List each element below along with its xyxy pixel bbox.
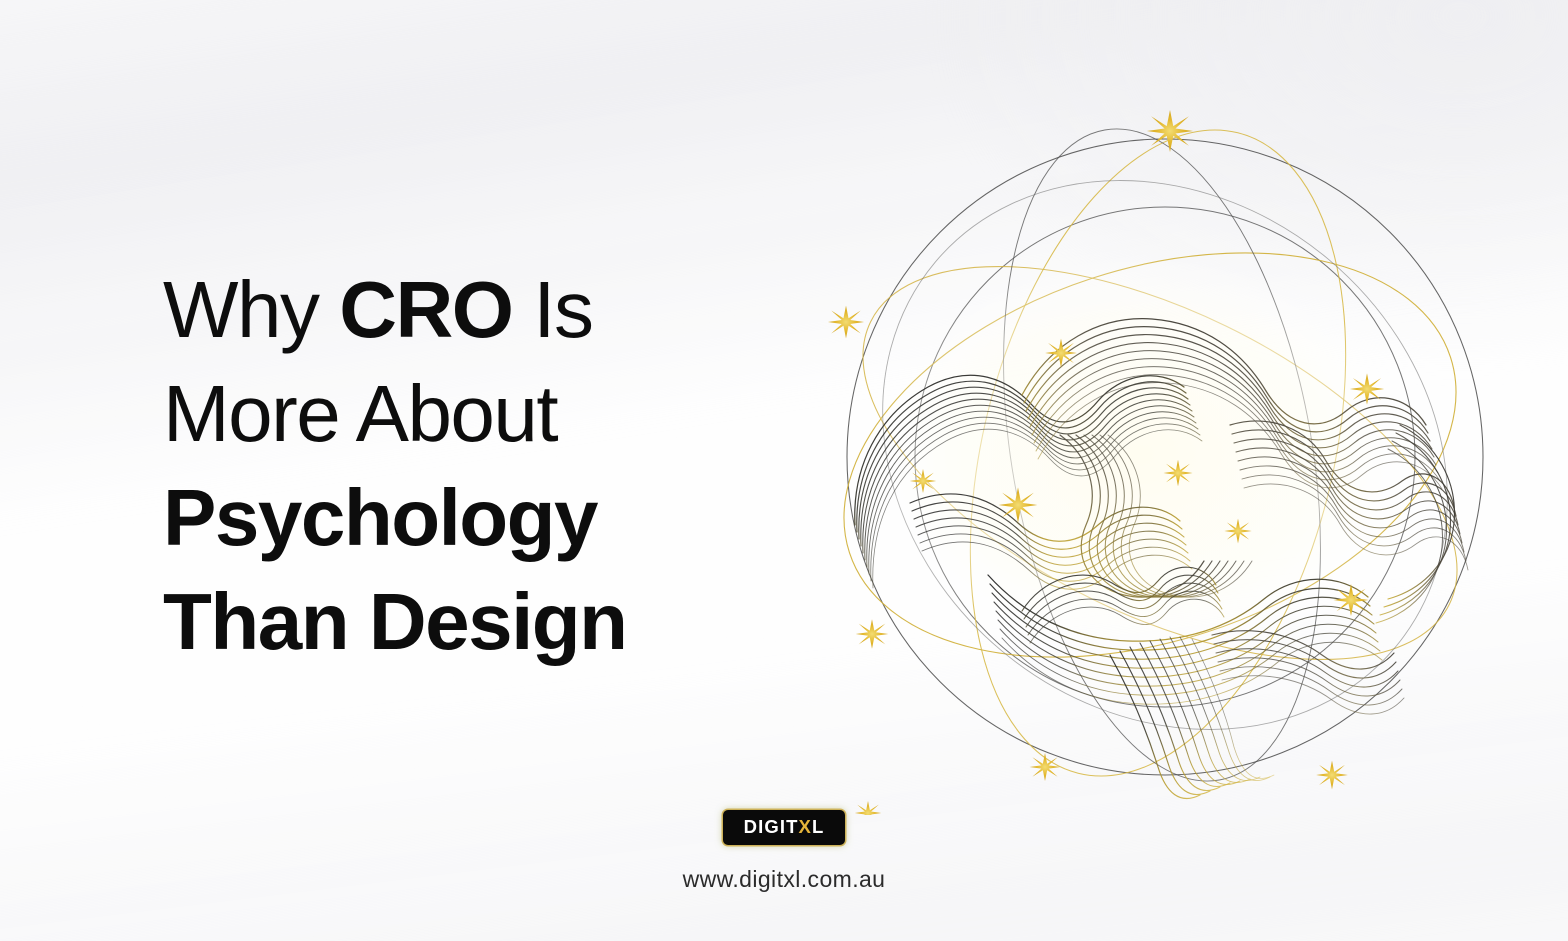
headline-line-4: Than Design	[163, 570, 783, 674]
logo-text-primary: DIGIT	[744, 816, 799, 837]
digitxl-logo[interactable]: DIGITXL	[723, 810, 845, 845]
sparkle-icon	[828, 306, 864, 339]
footer-block: DIGITXL www.digitxl.com.au	[0, 810, 1568, 893]
headline-line-3: Psychology	[163, 466, 783, 570]
logo-x-accent: X	[798, 816, 811, 837]
site-url[interactable]: www.digitxl.com.au	[683, 866, 886, 893]
headline-emphasis-cro: CRO	[339, 265, 512, 354]
sparkle-icon	[1316, 761, 1348, 790]
headline-block: Why CRO Is More About Psychology Than De…	[163, 258, 783, 674]
sparkle-icon	[1030, 753, 1061, 781]
headline-line-1: Why CRO Is	[163, 258, 783, 362]
headline-line-1-suffix: Is	[513, 265, 593, 354]
brain-orbit-svg	[760, 95, 1568, 815]
brain-orbit-illustration	[760, 95, 1568, 815]
headline-line-2: More About	[163, 362, 783, 466]
logo-text: DIGITXL	[744, 818, 825, 837]
sparkle-icon	[856, 619, 889, 649]
headline-line-1-prefix: Why	[163, 265, 339, 354]
logo-text-tail: L	[812, 816, 824, 837]
promo-banner: Why CRO Is More About Psychology Than De…	[0, 0, 1568, 941]
sparkle-icon	[1147, 110, 1193, 152]
